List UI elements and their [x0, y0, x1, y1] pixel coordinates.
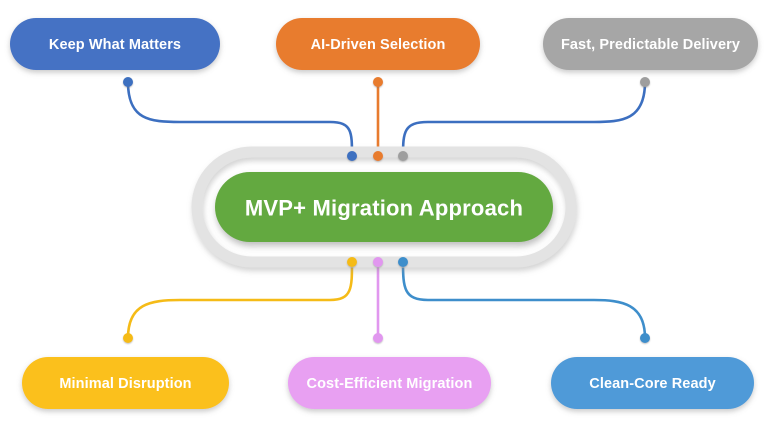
node-label-cost-efficient-migration: Cost-Efficient Migration — [307, 376, 473, 392]
connector-dot-hub-clean-core-ready — [398, 257, 408, 267]
node-label-fast-predictable-delivery: Fast, Predictable Delivery — [561, 37, 740, 53]
connector-dot-hub-fast-predictable-delivery — [398, 151, 408, 161]
connector-dot-outer-minimal-disruption — [123, 333, 133, 343]
node-keep-what-matters[interactable]: Keep What Matters — [10, 18, 220, 70]
connector-fast-predictable-delivery — [403, 82, 645, 156]
node-cost-efficient-migration[interactable]: Cost-Efficient Migration — [288, 357, 491, 409]
connector-keep-what-matters — [128, 82, 352, 156]
connector-dot-outer-ai-driven-selection — [373, 77, 383, 87]
hub-and-spoke-diagram: MVP+ Migration Approach Keep What Matter… — [0, 0, 768, 427]
connector-dot-hub-minimal-disruption — [347, 257, 357, 267]
node-fast-predictable-delivery[interactable]: Fast, Predictable Delivery — [543, 18, 758, 70]
connector-dot-hub-cost-efficient-migration — [373, 257, 383, 267]
node-ai-driven-selection[interactable]: AI-Driven Selection — [276, 18, 480, 70]
connector-dot-outer-keep-what-matters — [123, 77, 133, 87]
diagram-canvas: MVP+ Migration Approach Keep What Matter… — [0, 0, 768, 427]
connector-dot-outer-cost-efficient-migration — [373, 333, 383, 343]
node-label-clean-core-ready: Clean-Core Ready — [589, 376, 716, 392]
connector-clean-core-ready — [403, 262, 645, 338]
connector-dot-outer-clean-core-ready — [640, 333, 650, 343]
node-label-minimal-disruption: Minimal Disruption — [59, 376, 191, 392]
node-label-keep-what-matters: Keep What Matters — [49, 37, 181, 53]
hub-label: MVP+ Migration Approach — [245, 196, 523, 221]
hub-node[interactable]: MVP+ Migration Approach — [215, 172, 553, 242]
connector-minimal-disruption — [128, 262, 352, 338]
connector-dot-hub-keep-what-matters — [347, 151, 357, 161]
connector-dot-outer-fast-predictable-delivery — [640, 77, 650, 87]
node-clean-core-ready[interactable]: Clean-Core Ready — [551, 357, 754, 409]
connector-dot-hub-ai-driven-selection — [373, 151, 383, 161]
node-minimal-disruption[interactable]: Minimal Disruption — [22, 357, 229, 409]
node-label-ai-driven-selection: AI-Driven Selection — [311, 37, 446, 53]
